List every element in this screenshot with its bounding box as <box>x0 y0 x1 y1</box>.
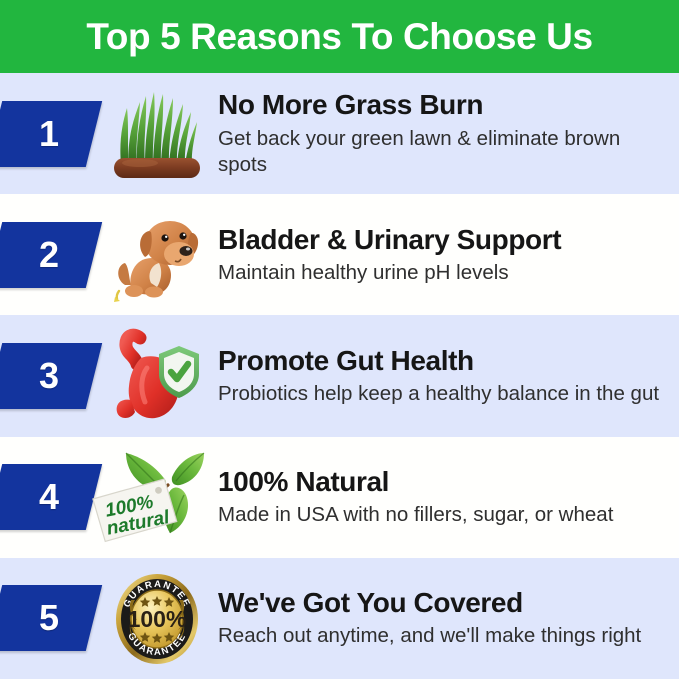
badge-number-label: 3 <box>29 358 59 394</box>
reason-description: Get back your green lawn & eliminate bro… <box>218 126 665 178</box>
reason-title: Promote Gut Health <box>218 345 665 376</box>
gold-guarantee-seal-icon: GUARANTEE GUARANTEE <box>105 566 209 670</box>
number-badge: 3 <box>0 343 102 409</box>
reason-title: We've Got You Covered <box>218 587 665 618</box>
reason-description: Reach out anytime, and we'll make things… <box>218 623 665 649</box>
infographic-root: Top 5 Reasons To Choose Us 1 <box>0 0 679 679</box>
stomach-shield-check-icon <box>107 324 207 428</box>
header-banner: Top 5 Reasons To Choose Us <box>0 0 679 73</box>
number-badge: 2 <box>0 222 102 288</box>
badge-number-label: 1 <box>29 116 59 152</box>
reasons-list: 1 <box>0 73 679 679</box>
icon-cell <box>104 73 210 194</box>
leaf-tag-icon: 100% natural <box>82 445 210 549</box>
reason-badge-2: 2 <box>0 194 104 315</box>
reason-description: Maintain healthy urine pH levels <box>218 260 665 286</box>
reason-row: 4 <box>0 437 679 558</box>
reason-description: Made in USA with no fillers, sugar, or w… <box>218 502 665 528</box>
badge-number-label: 5 <box>29 600 59 636</box>
seal-center-text: 100% <box>128 606 187 632</box>
page-title: Top 5 Reasons To Choose Us <box>86 16 592 58</box>
badge-number-label: 2 <box>29 237 59 273</box>
reason-row: 2 <box>0 194 679 315</box>
sitting-puppy-icon <box>107 205 207 305</box>
reason-title: 100% Natural <box>218 466 665 497</box>
reason-row: 1 <box>0 73 679 194</box>
icon-cell <box>104 194 210 315</box>
grass-patch-icon <box>107 84 207 184</box>
reason-title: No More Grass Burn <box>218 89 665 120</box>
reason-badge-3: 3 <box>0 315 104 436</box>
icon-cell <box>104 315 210 436</box>
number-badge: 1 <box>0 101 102 167</box>
badge-number-label: 4 <box>29 479 59 515</box>
text-cell: We've Got You Covered Reach out anytime,… <box>210 587 679 650</box>
reason-badge-5: 5 <box>0 558 104 679</box>
number-badge: 5 <box>0 585 102 651</box>
reason-title: Bladder & Urinary Support <box>218 224 665 255</box>
icon-cell: 100% natural <box>82 437 210 558</box>
text-cell: 100% Natural Made in USA with no fillers… <box>210 466 679 529</box>
reason-badge-1: 1 <box>0 73 104 194</box>
reason-description: Probiotics help keep a healthy balance i… <box>218 381 665 407</box>
reason-row: 5 <box>0 558 679 679</box>
text-cell: No More Grass Burn Get back your green l… <box>210 89 679 178</box>
icon-cell: GUARANTEE GUARANTEE <box>104 558 210 679</box>
text-cell: Bladder & Urinary Support Maintain healt… <box>210 224 679 287</box>
text-cell: Promote Gut Health Probiotics help keep … <box>210 345 679 408</box>
reason-row: 3 <box>0 315 679 436</box>
